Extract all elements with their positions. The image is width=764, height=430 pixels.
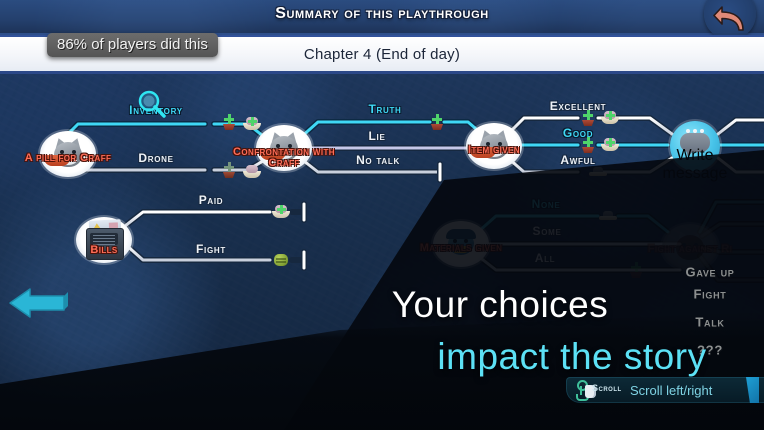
- node-title: Materials given: [406, 243, 516, 254]
- choice-fight[interactable]: Fight: [196, 242, 226, 256]
- choice-no-talk[interactable]: No talk: [356, 153, 400, 167]
- reward-hat-icon: [589, 164, 607, 180]
- node-title: A pill for Craff: [8, 153, 128, 164]
- choice-fight-2[interactable]: Fight: [694, 287, 727, 302]
- magnifier-icon: [137, 89, 163, 115]
- reward-hat-icon: [599, 208, 617, 224]
- choice-drone[interactable]: Drone: [138, 151, 173, 165]
- reward-food-icon: [243, 164, 261, 180]
- reward-food-icon: [601, 137, 619, 153]
- choice-talk[interactable]: Talk: [695, 315, 724, 330]
- reward-plant-icon: [579, 137, 597, 153]
- reward-plant-icon: [627, 262, 645, 278]
- node-title: Item given: [434, 145, 554, 156]
- chapter-label: Chapter 4 (End of day): [304, 46, 460, 63]
- reward-food-icon: [243, 116, 261, 132]
- page-title: Summary of this playthrough: [0, 5, 764, 23]
- reward-plant-icon: [428, 114, 446, 130]
- header-bar: Summary of this playthrough: [0, 0, 764, 35]
- node-materials-given[interactable]: Materials given: [433, 221, 489, 267]
- choice-truth[interactable]: Truth: [368, 102, 401, 116]
- reward-fist-icon: [272, 252, 290, 268]
- node-title: Write message: [645, 147, 745, 183]
- arrow-left-icon: [8, 310, 70, 327]
- node-pill-for-craff[interactable]: A pill for Craff: [40, 131, 96, 177]
- node-title: Bills: [64, 245, 144, 256]
- choice-unknown[interactable]: ???: [697, 343, 723, 358]
- node-item-given[interactable]: Item given: [466, 123, 522, 169]
- scroll-hint-text: Scroll left/right: [630, 383, 712, 398]
- choice-lie[interactable]: Lie: [369, 129, 386, 143]
- playthrough-summary-screen: Summary of this playthrough Chapter 4 (E…: [0, 0, 764, 430]
- node-fight-against-ri[interactable]: Fight against Ri: [662, 224, 718, 270]
- node-write-message[interactable]: Write message: [670, 121, 720, 171]
- reward-food-icon: [272, 204, 290, 220]
- node-title: Confrontation with Craff: [224, 147, 344, 169]
- choice-all[interactable]: All: [535, 251, 556, 265]
- scroll-key-label: Scroll: [592, 383, 622, 393]
- scroll-left-arrow-button[interactable]: [8, 283, 70, 323]
- stat-tooltip: 86% of players did this: [47, 33, 218, 57]
- choice-excellent[interactable]: Excellent: [550, 99, 607, 113]
- node-confrontation[interactable]: Confrontation with Craff: [256, 125, 312, 171]
- scroll-hint-bar: Scroll Scroll left/right: [566, 377, 764, 403]
- node-title: Fight against Ri: [635, 244, 745, 255]
- choice-gave-up[interactable]: Gave up: [686, 265, 735, 280]
- node-bills[interactable]: Bills: [76, 217, 132, 263]
- reward-plant-icon: [220, 162, 238, 178]
- bill-machine-icon: [76, 217, 132, 263]
- choice-paid[interactable]: Paid: [199, 193, 224, 207]
- reward-plant-icon: [220, 114, 238, 130]
- choice-none[interactable]: None: [532, 197, 561, 211]
- reward-plant-icon: [579, 110, 597, 126]
- reward-food-icon: [601, 110, 619, 126]
- choice-some[interactable]: Some: [532, 224, 561, 238]
